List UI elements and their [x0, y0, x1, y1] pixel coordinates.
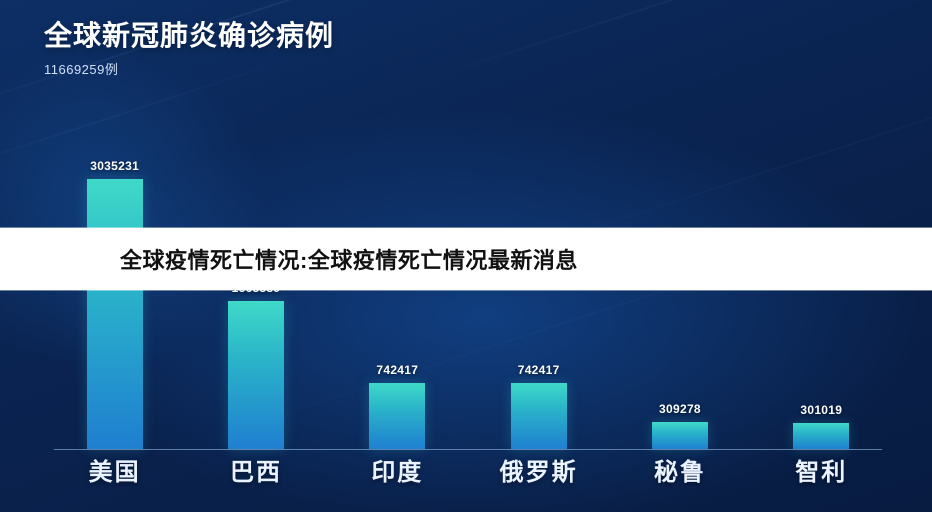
- bar[interactable]: [369, 383, 425, 449]
- x-axis-line: [54, 449, 882, 450]
- bar[interactable]: [793, 423, 849, 449]
- background-streak: [397, 0, 932, 90]
- x-axis-tick-label: 印度: [327, 452, 468, 487]
- chart-subtitle: 11669259例: [44, 59, 334, 78]
- x-axis-labels: 美国 巴西 印度 俄罗斯 秘鲁 智利: [44, 452, 892, 487]
- x-axis-tick-label: 美国: [44, 452, 185, 487]
- bar[interactable]: [87, 179, 143, 449]
- x-axis-tick-label: 智利: [751, 452, 892, 487]
- chart-canvas: 全球新冠肺炎确诊病例 11669259例 3035231 1668589 742…: [0, 0, 932, 512]
- x-axis-tick-label: 俄罗斯: [468, 452, 609, 487]
- bar-value-label: 742417: [376, 363, 418, 377]
- chart-header: 全球新冠肺炎确诊病例 11669259例: [44, 18, 334, 78]
- bar-value-label: 3035231: [90, 159, 139, 173]
- x-axis-tick-label: 巴西: [185, 452, 326, 487]
- overlay-banner-text: 全球疫情死亡情况:全球疫情死亡情况最新消息: [120, 243, 578, 275]
- bar[interactable]: [511, 383, 567, 449]
- overlay-banner: 全球疫情死亡情况:全球疫情死亡情况最新消息: [0, 228, 932, 290]
- bar-value-label: 309278: [659, 402, 701, 416]
- bar[interactable]: [652, 422, 708, 449]
- bar[interactable]: [228, 301, 284, 449]
- chart-title: 全球新冠肺炎确诊病例: [44, 18, 334, 53]
- bar-value-label: 301019: [800, 403, 842, 417]
- bar-value-label: 742417: [518, 363, 560, 377]
- x-axis-tick-label: 秘鲁: [609, 452, 750, 487]
